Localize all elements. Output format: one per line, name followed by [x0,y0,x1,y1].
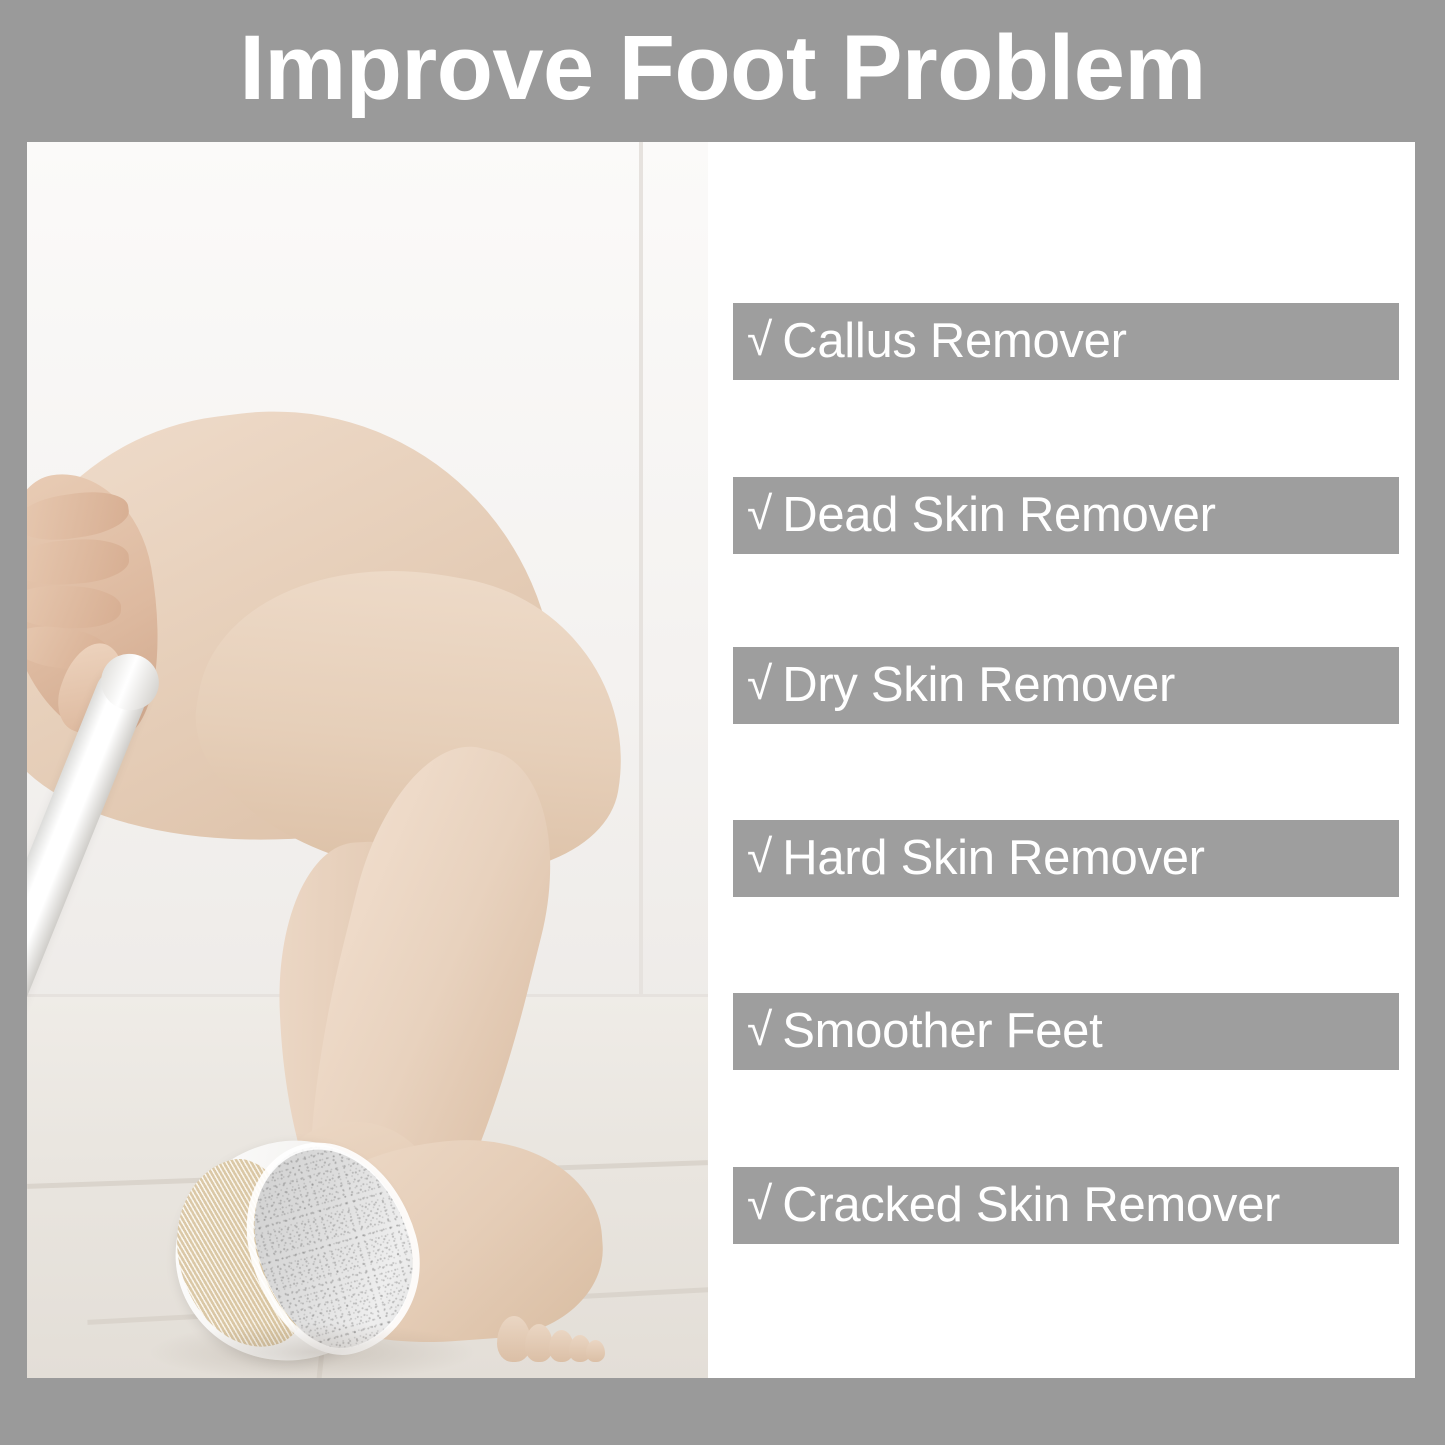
feature-list: √ Callus Remover √ Dead Skin Remover √ D… [708,142,1415,1378]
feature-label: Dry Skin Remover [782,661,1175,710]
page-title: Improve Foot Problem [239,22,1205,120]
feature-label: Dead Skin Remover [782,491,1215,540]
toes [497,1282,607,1362]
feature-label: Smoother Feet [782,1007,1102,1056]
check-icon: √ [747,1006,772,1052]
product-photo [27,142,708,1378]
feature-label: Hard Skin Remover [782,834,1204,883]
feature-row: √ Cracked Skin Remover [733,1167,1399,1244]
check-icon: √ [747,833,772,879]
feature-row: √ Smoother Feet [733,993,1399,1070]
content-panel: √ Callus Remover √ Dead Skin Remover √ D… [27,142,1415,1378]
wall-seam [639,142,643,998]
check-icon: √ [747,660,772,706]
title-banner: Improve Foot Problem [0,0,1445,142]
check-icon: √ [747,490,772,536]
feature-row: √ Hard Skin Remover [733,820,1399,897]
check-icon: √ [747,316,772,362]
feature-label: Callus Remover [782,317,1126,366]
check-icon: √ [747,1180,772,1226]
floor-shadow [147,1322,477,1378]
feature-row: √ Dry Skin Remover [733,647,1399,724]
toe [586,1340,605,1362]
feature-row: √ Callus Remover [733,303,1399,380]
feature-label: Cracked Skin Remover [782,1181,1280,1230]
feature-row: √ Dead Skin Remover [733,477,1399,554]
